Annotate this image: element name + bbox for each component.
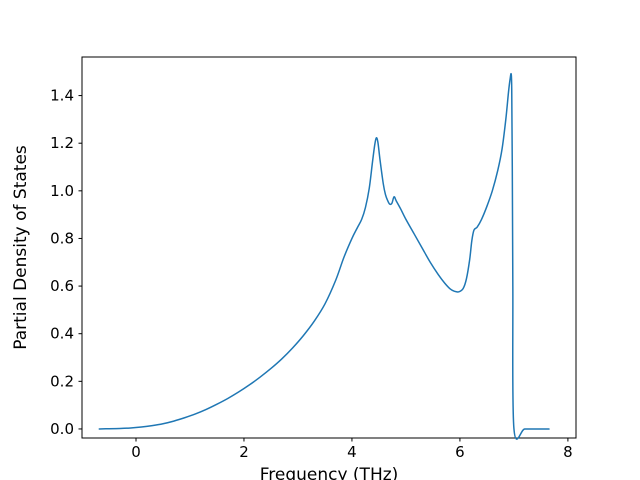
x-tick-label: 0 bbox=[131, 443, 141, 461]
y-tick-label: 0.8 bbox=[50, 229, 74, 247]
y-tick-label: 0.4 bbox=[50, 325, 74, 343]
y-tick-label: 1.0 bbox=[50, 182, 74, 200]
figure-background bbox=[0, 0, 640, 480]
x-tick-label: 4 bbox=[347, 443, 357, 461]
x-tick-label: 6 bbox=[455, 443, 465, 461]
figure-canvas: 02468 0.00.20.40.60.81.01.21.4 Frequency… bbox=[0, 0, 640, 480]
x-axis-title: Frequency (THz) bbox=[260, 465, 399, 480]
y-tick-label: 0.2 bbox=[50, 372, 74, 390]
y-axis-title: Partial Density of States bbox=[11, 145, 31, 350]
y-tick-label: 1.2 bbox=[50, 134, 74, 152]
y-tick-label: 0.0 bbox=[50, 420, 74, 438]
x-tick-label: 2 bbox=[239, 443, 249, 461]
x-tick-label: 8 bbox=[563, 443, 573, 461]
y-tick-label: 1.4 bbox=[50, 87, 74, 105]
pdos-line-chart: 02468 0.00.20.40.60.81.01.21.4 Frequency… bbox=[0, 0, 640, 480]
y-tick-label: 0.6 bbox=[50, 277, 74, 295]
